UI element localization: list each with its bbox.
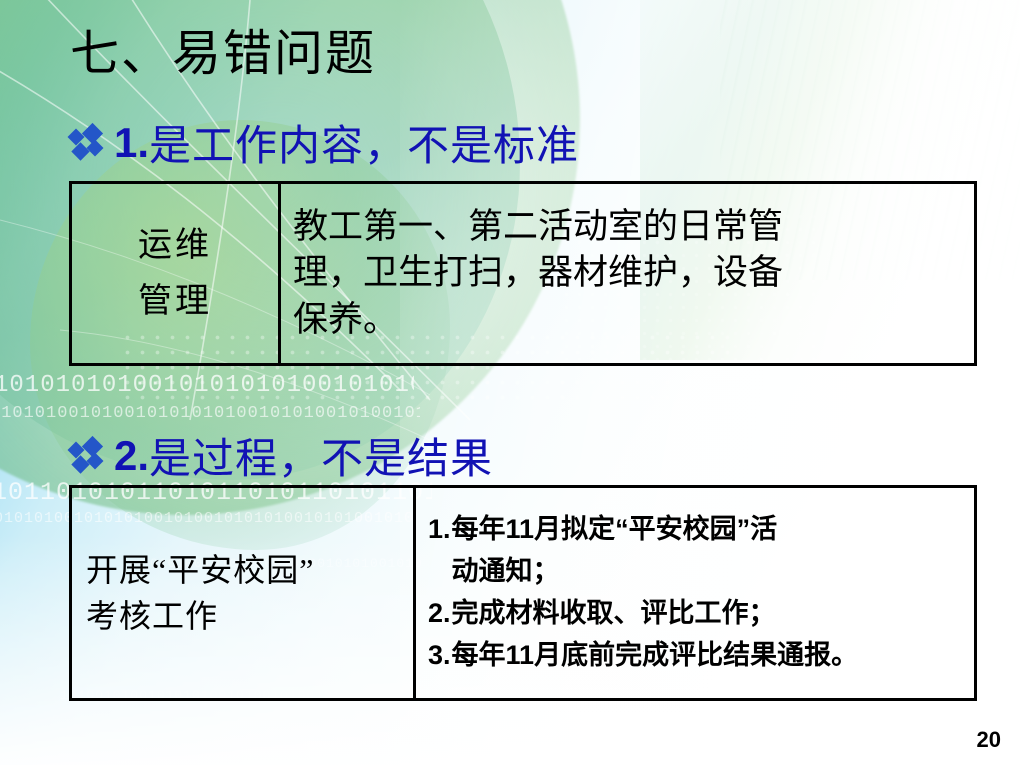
table-operations-management: 运维 管理 教工第一、第二活动室的日常管 理，卫生打扫，器材维护，设备 保养。 — [69, 181, 977, 366]
table-two-item-list: 1. 每年11月拟定“平安校园”活 动通知； 2. 完成材料收取、评比工作； 3… — [428, 509, 968, 676]
section-number-1: 1. — [114, 119, 149, 167]
list-item-number: 3. — [428, 635, 451, 677]
diamond-cluster-bullet-icon — [68, 123, 108, 163]
list-item-text: 每年11月底前完成评比结果通报。 — [452, 635, 968, 677]
table-two-body-cell: 1. 每年11月拟定“平安校园”活 动通知； 2. 完成材料收取、评比工作； 3… — [413, 488, 974, 698]
table-two-label: 开展“平安校园” 考核工作 — [86, 547, 314, 640]
table-one-body-line2: 理，卫生打扫，器材维护，设备 — [293, 250, 783, 297]
section-heading-2: 2. 是过程，不是结果 — [68, 425, 493, 486]
list-item-number: 2. — [428, 593, 451, 635]
table-two-list-item: 1. 每年11月拟定“平安校园”活 动通知； — [428, 509, 968, 593]
slide-canvas: 10101010100101010101001010101010010101 0… — [0, 0, 1020, 765]
list-item-text-line2: 动通知； — [452, 551, 968, 593]
table-safe-campus-assessment: 开展“平安校园” 考核工作 1. 每年11月拟定“平安校园”活 动通知； 2. — [69, 485, 977, 701]
table-one-label-cell: 运维 管理 — [72, 184, 278, 363]
table-two-label-line1: 开展“平安校园” — [86, 547, 314, 593]
list-item-text: 完成材料收取、评比工作； — [452, 593, 968, 635]
section-label-1: 是工作内容，不是标准 — [149, 112, 579, 173]
table-two-list-item: 2. 完成材料收取、评比工作； — [428, 593, 968, 635]
list-item-number: 1. — [428, 509, 451, 551]
page-number: 20 — [977, 727, 1001, 753]
table-two-list-item: 3. 每年11月底前完成评比结果通报。 — [428, 635, 968, 677]
table-one-label-line1: 运维 — [138, 218, 212, 273]
section-label-2: 是过程，不是结果 — [149, 425, 493, 486]
table-one-body-line3: 保养。 — [293, 297, 783, 344]
table-one-body-line1: 教工第一、第二活动室的日常管 — [293, 204, 783, 251]
table-one-label-line2: 管理 — [138, 274, 212, 329]
list-item-text-line1: 每年11月拟定“平安校园”活 — [452, 514, 778, 544]
section-heading-1: 1. 是工作内容，不是标准 — [68, 112, 579, 173]
table-two-label-cell: 开展“平安校园” 考核工作 — [72, 488, 413, 698]
table-two-label-line2: 考核工作 — [86, 593, 314, 639]
slide-content: 七、易错问题 1. 是工作内容，不是标准 运维 管理 教工第一、第二活动室的日常… — [0, 0, 1020, 765]
list-item-text: 每年11月拟定“平安校园”活 动通知； — [452, 509, 968, 593]
diamond-cluster-bullet-icon — [68, 436, 108, 476]
section-number-2: 2. — [114, 432, 149, 480]
table-one-body-cell: 教工第一、第二活动室的日常管 理，卫生打扫，器材维护，设备 保养。 — [278, 184, 974, 363]
table-one-body: 教工第一、第二活动室的日常管 理，卫生打扫，器材维护，设备 保养。 — [293, 204, 783, 344]
table-one-label: 运维 管理 — [138, 218, 212, 328]
page-title: 七、易错问题 — [70, 28, 376, 79]
